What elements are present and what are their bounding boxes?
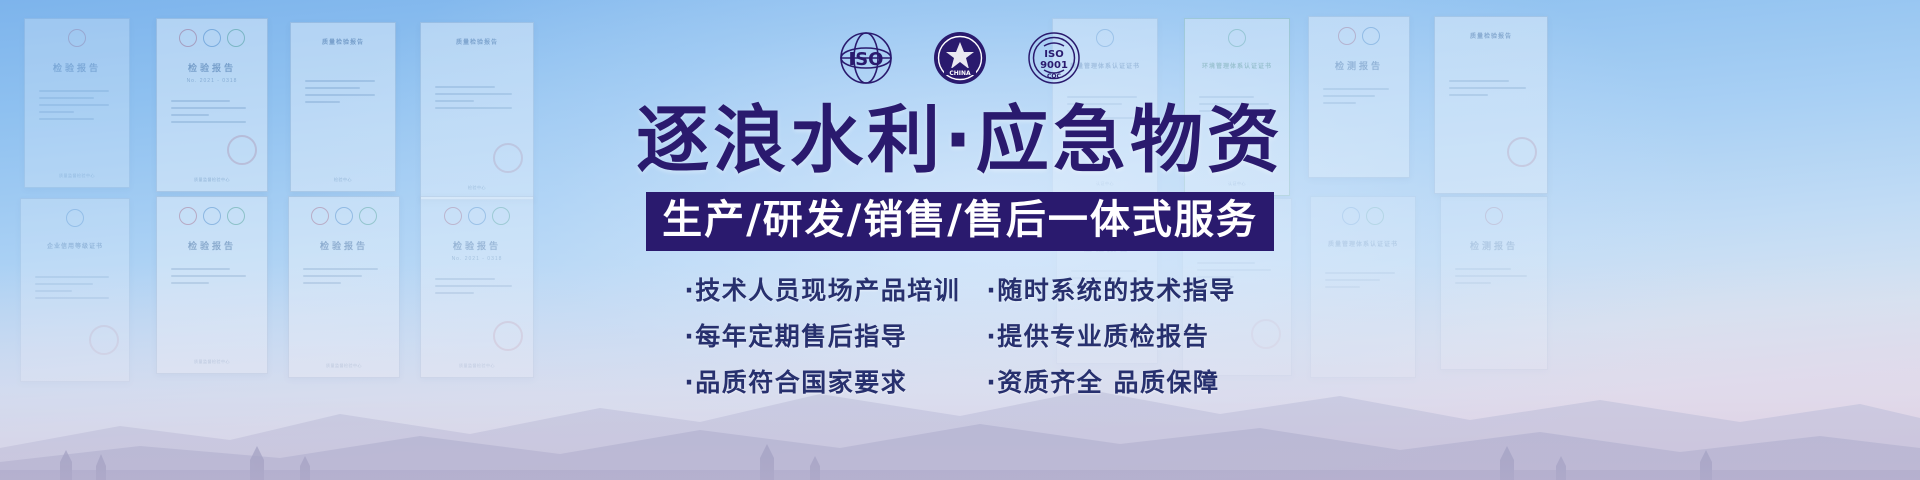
page-title: 逐浪水利·应急物资 xyxy=(636,102,1284,180)
feature-item: ·提供专业质检报告 xyxy=(986,323,1236,351)
promo-banner: 检验报告 质量监督检验中心 检验报告 No. 2021 - 0318 质量监督检… xyxy=(0,0,1920,480)
feature-item: ·每年定期售后指导 xyxy=(684,323,960,351)
feature-item: ·品质符合国家要求 xyxy=(684,369,960,397)
svg-text:ISO: ISO xyxy=(1044,49,1063,60)
certification-badges: ISO CHINA ISO 9001 CQC xyxy=(836,28,1084,88)
svg-text:9001: 9001 xyxy=(1040,60,1068,71)
banner-content: ISO CHINA ISO 9001 CQC xyxy=(0,0,1920,480)
feature-item: ·资质齐全 品质保障 xyxy=(986,369,1236,397)
svg-text:ISO: ISO xyxy=(849,49,884,70)
iso9001-cqc-badge: ISO 9001 CQC xyxy=(1024,28,1084,88)
svg-text:CHINA: CHINA xyxy=(949,70,971,77)
feature-item: ·技术人员现场产品培训 xyxy=(684,277,960,305)
iso-badge: ISO xyxy=(836,28,896,88)
svg-text:CQC: CQC xyxy=(1047,73,1062,80)
china-quality-badge: CHINA xyxy=(930,28,990,88)
feature-item: ·随时系统的技术指导 xyxy=(986,277,1236,305)
feature-list: ·技术人员现场产品培训 ·随时系统的技术指导 ·每年定期售后指导 ·提供专业质检… xyxy=(684,277,1236,397)
subtitle-bar: 生产/研发/销售/售后一体式服务 xyxy=(646,192,1274,251)
